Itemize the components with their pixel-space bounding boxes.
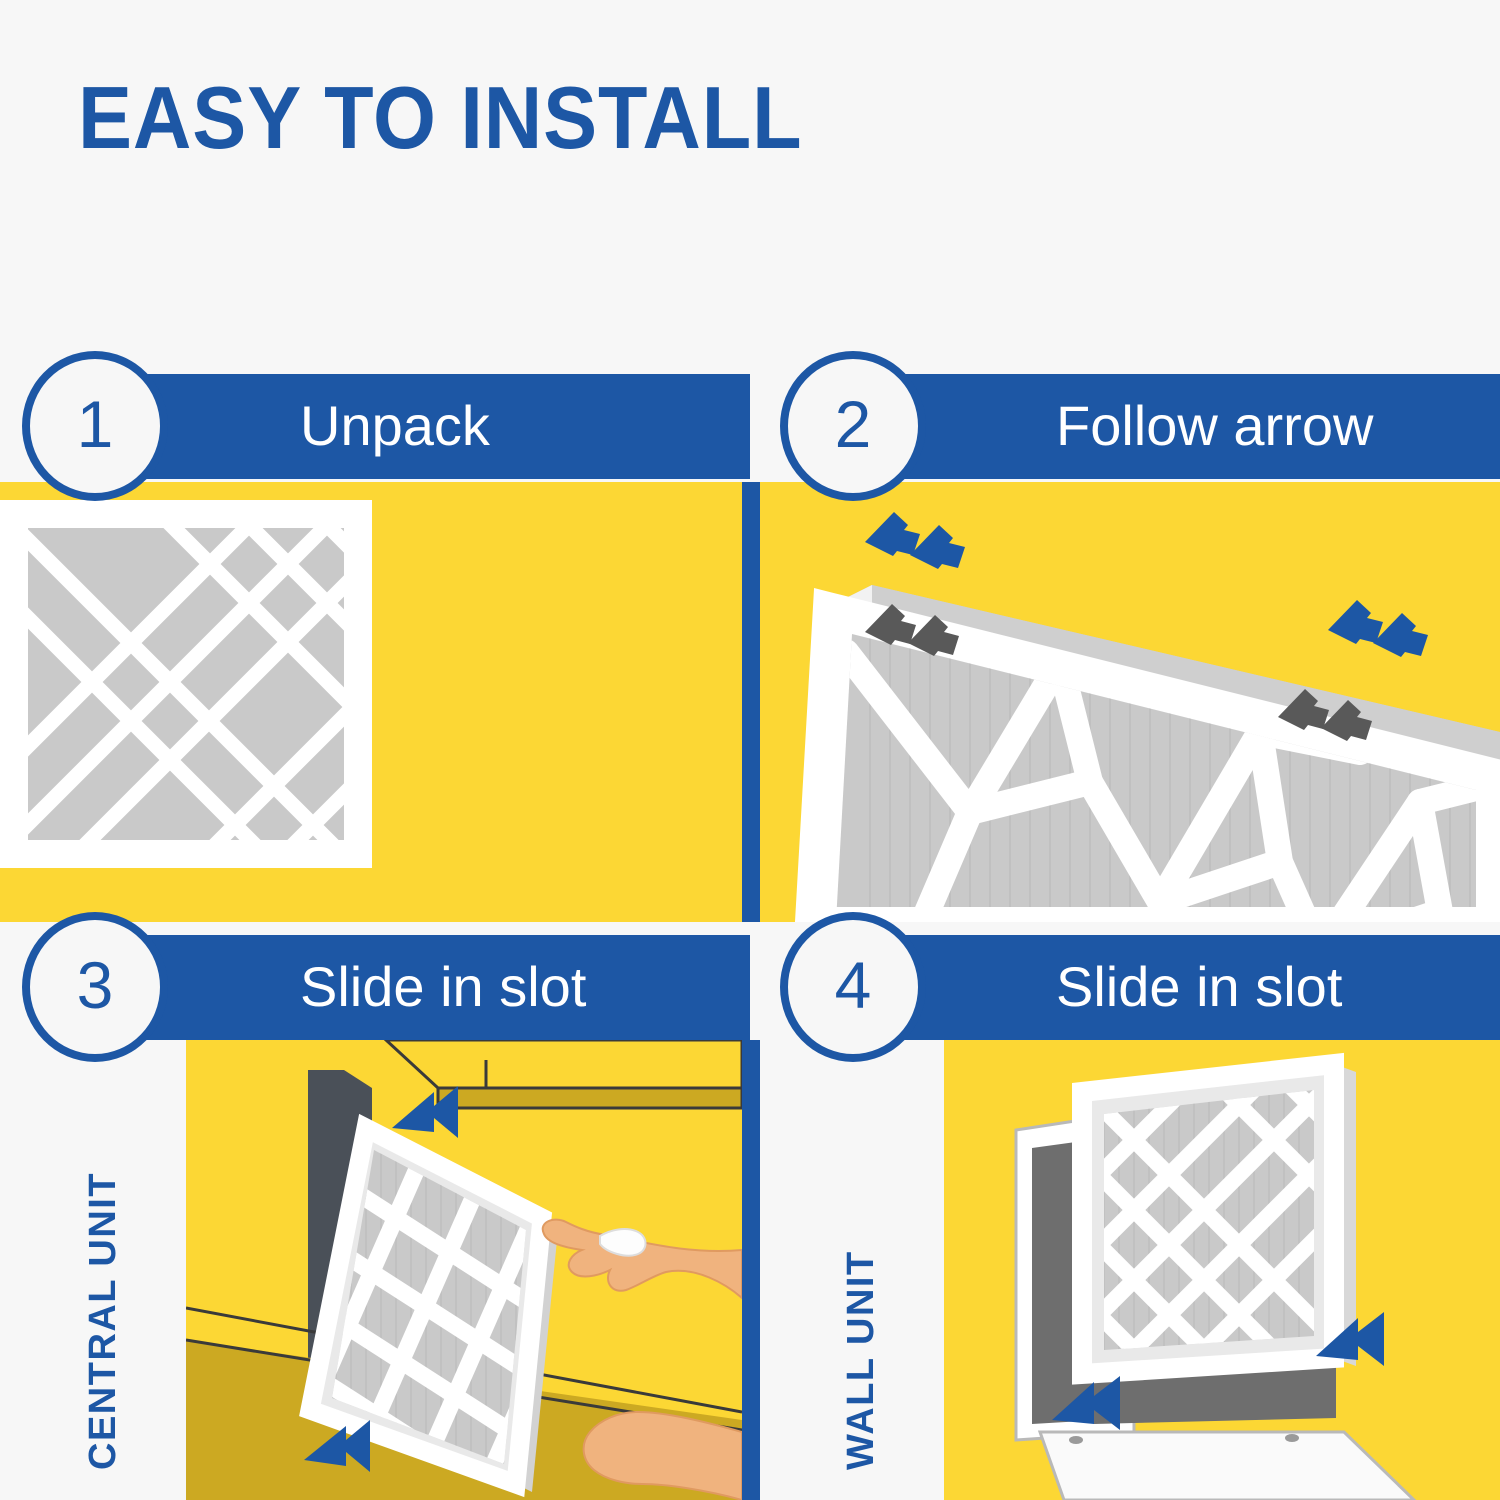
wall-unit-insert-icon <box>944 1040 1500 1500</box>
step-3-side-label: CENTRAL UNIT <box>82 1172 125 1470</box>
step-1-number-badge: 1 <box>22 351 168 501</box>
step-4-label: Slide in slot <box>1056 954 1342 1019</box>
step-4-side-label: WALL UNIT <box>840 1250 883 1470</box>
step-1-header-bar: Unpack <box>100 374 750 479</box>
step-panel-1 <box>0 482 742 922</box>
step-3-header-bar: Slide in slot <box>100 935 750 1040</box>
filter-front-view-icon <box>0 482 742 922</box>
step-1-number: 1 <box>77 391 114 457</box>
step-4-number: 4 <box>835 952 872 1018</box>
filter-tilted-airflow-icon <box>760 482 1500 922</box>
step-3-label: Slide in slot <box>300 954 586 1019</box>
step-2-number: 2 <box>835 391 872 457</box>
step-4-illustration-area <box>944 1040 1500 1500</box>
step-panel-2 <box>760 482 1500 922</box>
infographic-root: EASY TO INSTALL <box>0 0 1500 1500</box>
step-panel-4 <box>944 1040 1500 1500</box>
column-separator-bottom <box>742 1040 760 1500</box>
central-unit-insert-icon <box>186 1040 742 1500</box>
airflow-arrow-left-1 <box>865 512 920 556</box>
step-panel-3 <box>186 1040 742 1500</box>
step-4-header-bar: Slide in slot <box>856 935 1500 1040</box>
step-2-label: Follow arrow <box>1056 393 1373 458</box>
step-3-illustration-area <box>186 1040 742 1500</box>
airflow-arrow-left-2 <box>910 525 965 569</box>
step-3-number-badge: 3 <box>22 912 168 1062</box>
page-title: EASY TO INSTALL <box>78 74 803 162</box>
airflow-arrow-right-2 <box>1373 613 1428 657</box>
step-1-label: Unpack <box>300 393 490 458</box>
step-2-number-badge: 2 <box>780 351 926 501</box>
step-4-number-badge: 4 <box>780 912 926 1062</box>
column-separator-top <box>742 482 760 922</box>
step-1-illustration-area <box>0 482 742 922</box>
airflow-arrow-right-1 <box>1328 600 1383 644</box>
step-3-number: 3 <box>77 952 114 1018</box>
step-2-header-bar: Follow arrow <box>856 374 1500 479</box>
step-2-illustration-area <box>760 482 1500 922</box>
